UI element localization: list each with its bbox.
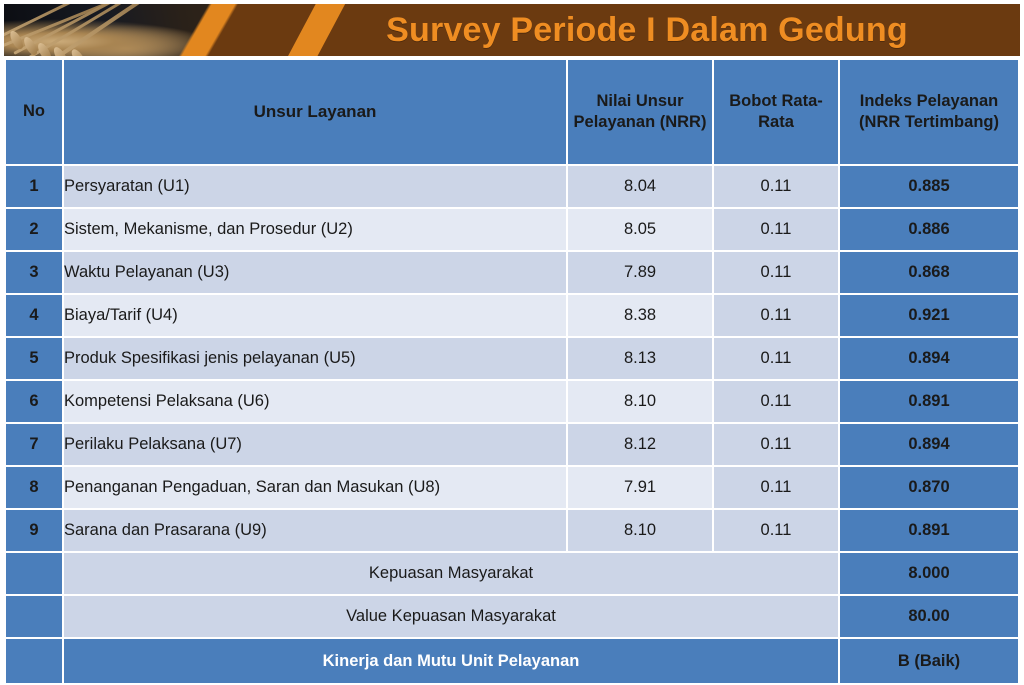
cell-indeks: 0.891 <box>840 510 1018 551</box>
cell-bobot: 0.11 <box>714 295 838 336</box>
cell-no: 4 <box>6 295 62 336</box>
cell-nrr: 8.13 <box>568 338 712 379</box>
cell-no-blank <box>6 596 62 637</box>
cell-no: 8 <box>6 467 62 508</box>
cell-nrr: 8.12 <box>568 424 712 465</box>
cell-no: 2 <box>6 209 62 250</box>
cell-indeks: 0.885 <box>840 166 1018 207</box>
summary-value: 8.000 <box>840 553 1018 594</box>
page-title: Survey Periode I Dalam Gedung <box>304 11 1020 50</box>
cell-no-blank <box>6 639 62 683</box>
cell-indeks: 0.891 <box>840 381 1018 422</box>
final-summary-row: Kinerja dan Mutu Unit PelayananB (Baik) <box>6 639 1018 683</box>
summary-value: 80.00 <box>840 596 1018 637</box>
table-row: 2Sistem, Mekanisme, dan Prosedur (U2)8.0… <box>6 209 1018 250</box>
table-row: 7Perilaku Pelaksana (U7)8.120.110.894 <box>6 424 1018 465</box>
wheat-stalk <box>43 4 203 56</box>
table-row: 1Persyaratan (U1)8.040.110.885 <box>6 166 1018 207</box>
cell-nrr: 8.04 <box>568 166 712 207</box>
table-row: 5Produk Spesifikasi jenis pelayanan (U5)… <box>6 338 1018 379</box>
table-row: 6Kompetensi Pelaksana (U6)8.100.110.891 <box>6 381 1018 422</box>
cell-nrr: 7.89 <box>568 252 712 293</box>
cell-indeks: 0.921 <box>840 295 1018 336</box>
cell-unsur-layanan: Persyaratan (U1) <box>64 166 566 207</box>
cell-bobot: 0.11 <box>714 252 838 293</box>
wheat-stalks-photo <box>4 4 304 56</box>
cell-indeks: 0.894 <box>840 424 1018 465</box>
column-header-unsur-layanan: Unsur Layanan <box>64 60 566 164</box>
table-row: 9Sarana dan Prasarana (U9)8.100.110.891 <box>6 510 1018 551</box>
cell-no: 9 <box>6 510 62 551</box>
final-value: B (Baik) <box>840 639 1018 683</box>
cell-indeks: 0.868 <box>840 252 1018 293</box>
cell-bobot: 0.11 <box>714 209 838 250</box>
cell-unsur-layanan: Waktu Pelayanan (U3) <box>64 252 566 293</box>
cell-bobot: 0.11 <box>714 338 838 379</box>
column-header-indeks-pelayanan: Indeks Pelayanan (NRR Tertimbang) <box>840 60 1018 164</box>
cell-no: 1 <box>6 166 62 207</box>
summary-row: Kepuasan Masyarakat8.000 <box>6 553 1018 594</box>
cell-bobot: 0.11 <box>714 467 838 508</box>
survey-table: No Unsur Layanan Nilai Unsur Pelayanan (… <box>4 58 1020 685</box>
column-header-bobot-rata-rata: Bobot Rata-Rata <box>714 60 838 164</box>
table-row: 3Waktu Pelayanan (U3)7.890.110.868 <box>6 252 1018 293</box>
cell-no-blank <box>6 553 62 594</box>
cell-unsur-layanan: Penanganan Pengaduan, Saran dan Masukan … <box>64 467 566 508</box>
cell-nrr: 8.38 <box>568 295 712 336</box>
cell-nrr: 7.91 <box>568 467 712 508</box>
summary-label: Kepuasan Masyarakat <box>64 553 838 594</box>
header-row: No Unsur Layanan Nilai Unsur Pelayanan (… <box>6 60 1018 164</box>
cell-nrr: 8.10 <box>568 381 712 422</box>
cell-no: 7 <box>6 424 62 465</box>
table-row: 8Penanganan Pengaduan, Saran dan Masukan… <box>6 467 1018 508</box>
cell-unsur-layanan: Sarana dan Prasarana (U9) <box>64 510 566 551</box>
table-header: No Unsur Layanan Nilai Unsur Pelayanan (… <box>6 60 1018 164</box>
cell-indeks: 0.894 <box>840 338 1018 379</box>
survey-table-page: Survey Periode I Dalam Gedung No Unsur L… <box>0 0 1024 660</box>
column-header-no: No <box>6 60 62 164</box>
cell-nrr: 8.10 <box>568 510 712 551</box>
table-body: 1Persyaratan (U1)8.040.110.8852Sistem, M… <box>6 166 1018 683</box>
cell-unsur-layanan: Kompetensi Pelaksana (U6) <box>64 381 566 422</box>
cell-no: 3 <box>6 252 62 293</box>
cell-unsur-layanan: Biaya/Tarif (U4) <box>64 295 566 336</box>
cell-unsur-layanan: Sistem, Mekanisme, dan Prosedur (U2) <box>64 209 566 250</box>
cell-bobot: 0.11 <box>714 424 838 465</box>
cell-bobot: 0.11 <box>714 510 838 551</box>
cell-indeks: 0.886 <box>840 209 1018 250</box>
summary-label: Value Kepuasan Masyarakat <box>64 596 838 637</box>
table-row: 4Biaya/Tarif (U4)8.380.110.921 <box>6 295 1018 336</box>
column-header-nilai-unsur-pelayanan: Nilai Unsur Pelayanan (NRR) <box>568 60 712 164</box>
page-banner: Survey Periode I Dalam Gedung <box>4 4 1020 56</box>
cell-unsur-layanan: Perilaku Pelaksana (U7) <box>64 424 566 465</box>
cell-no: 5 <box>6 338 62 379</box>
cell-unsur-layanan: Produk Spesifikasi jenis pelayanan (U5) <box>64 338 566 379</box>
summary-row: Value Kepuasan Masyarakat80.00 <box>6 596 1018 637</box>
cell-nrr: 8.05 <box>568 209 712 250</box>
cell-bobot: 0.11 <box>714 166 838 207</box>
final-label: Kinerja dan Mutu Unit Pelayanan <box>64 639 838 683</box>
cell-bobot: 0.11 <box>714 381 838 422</box>
cell-no: 6 <box>6 381 62 422</box>
cell-indeks: 0.870 <box>840 467 1018 508</box>
